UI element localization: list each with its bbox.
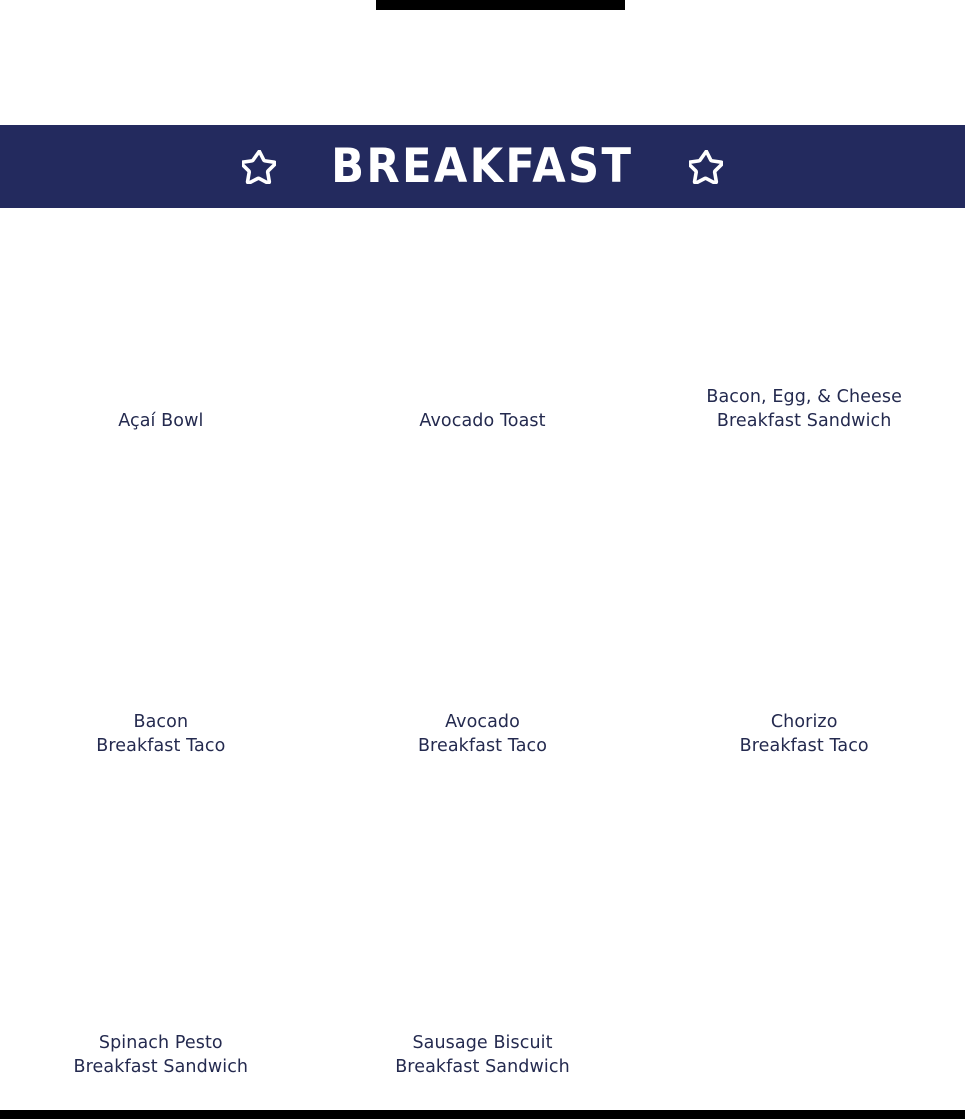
menu-item-label-line1: Chorizo: [771, 712, 838, 732]
menu-item-card[interactable]: Bacon Breakfast Taco: [0, 495, 322, 782]
menu-item-label-line2: Breakfast Sandwich: [74, 1055, 249, 1079]
menu-item-card[interactable]: Açaí Bowl: [0, 208, 322, 495]
item-image[interactable]: [0, 208, 322, 409]
item-image[interactable]: [322, 782, 644, 1031]
menu-item-label-line1: Sausage Biscuit: [412, 1033, 552, 1053]
menu-item-card[interactable]: Chorizo Breakfast Taco: [643, 495, 965, 782]
item-image[interactable]: [0, 782, 322, 1031]
menu-item-label-line2: Breakfast Sandwich: [395, 1055, 570, 1079]
menu-item-label: Bacon Breakfast Taco: [90, 710, 231, 758]
menu-item-label-line2: Breakfast Taco: [418, 734, 547, 758]
menu-item-card[interactable]: Sausage Biscuit Breakfast Sandwich: [322, 782, 644, 1088]
menu-item-card-empty: [643, 782, 965, 1088]
menu-item-label: Açaí Bowl: [112, 409, 209, 433]
menu-item-label-line2: Breakfast Sandwich: [706, 409, 902, 433]
page-title: BREAKFAST: [331, 143, 633, 190]
menu-row: Açaí Bowl Avocado Toast Bacon, Egg, & Ch…: [0, 208, 965, 495]
menu-item-label-line2: Breakfast Taco: [740, 734, 869, 758]
item-image[interactable]: [322, 208, 644, 409]
menu-item-label-line1: Açaí Bowl: [118, 411, 203, 431]
star-icon: [242, 150, 276, 184]
item-image[interactable]: [322, 495, 644, 710]
menu-item-label: Bacon, Egg, & Cheese Breakfast Sandwich: [700, 385, 908, 433]
menu-item-label-line1: Bacon: [134, 712, 189, 732]
menu-item-label: Chorizo Breakfast Taco: [734, 710, 875, 758]
menu-item-label: Sausage Biscuit Breakfast Sandwich: [389, 1031, 576, 1079]
menu-item-label-line1: Avocado: [445, 712, 520, 732]
item-image[interactable]: [643, 208, 965, 385]
menu-row: Bacon Breakfast Taco Avocado Breakfast T…: [0, 495, 965, 782]
bottom-black-bar: [0, 1110, 965, 1119]
menu-item-card[interactable]: Bacon, Egg, & Cheese Breakfast Sandwich: [643, 208, 965, 495]
menu-item-card[interactable]: Spinach Pesto Breakfast Sandwich: [0, 782, 322, 1088]
menu-item-label-line1: Spinach Pesto: [99, 1033, 223, 1053]
item-image[interactable]: [643, 495, 965, 710]
item-image-empty: [643, 782, 965, 1079]
menu-grid: Açaí Bowl Avocado Toast Bacon, Egg, & Ch…: [0, 208, 965, 1088]
menu-item-label: Avocado Toast: [413, 409, 551, 433]
menu-item-label: Avocado Breakfast Taco: [412, 710, 553, 758]
menu-item-card[interactable]: Avocado Toast: [322, 208, 644, 495]
top-black-bar: [376, 0, 625, 10]
breakfast-section-banner: BREAKFAST: [0, 125, 965, 208]
menu-item-label-line1: Avocado Toast: [419, 411, 545, 431]
menu-item-card[interactable]: Avocado Breakfast Taco: [322, 495, 644, 782]
menu-item-label: Spinach Pesto Breakfast Sandwich: [68, 1031, 255, 1079]
menu-item-label-line1: Bacon, Egg, & Cheese: [706, 387, 902, 407]
item-image[interactable]: [0, 495, 322, 710]
star-icon: [689, 150, 723, 184]
menu-row: Spinach Pesto Breakfast Sandwich Sausage…: [0, 782, 965, 1088]
menu-item-label-line2: Breakfast Taco: [96, 734, 225, 758]
